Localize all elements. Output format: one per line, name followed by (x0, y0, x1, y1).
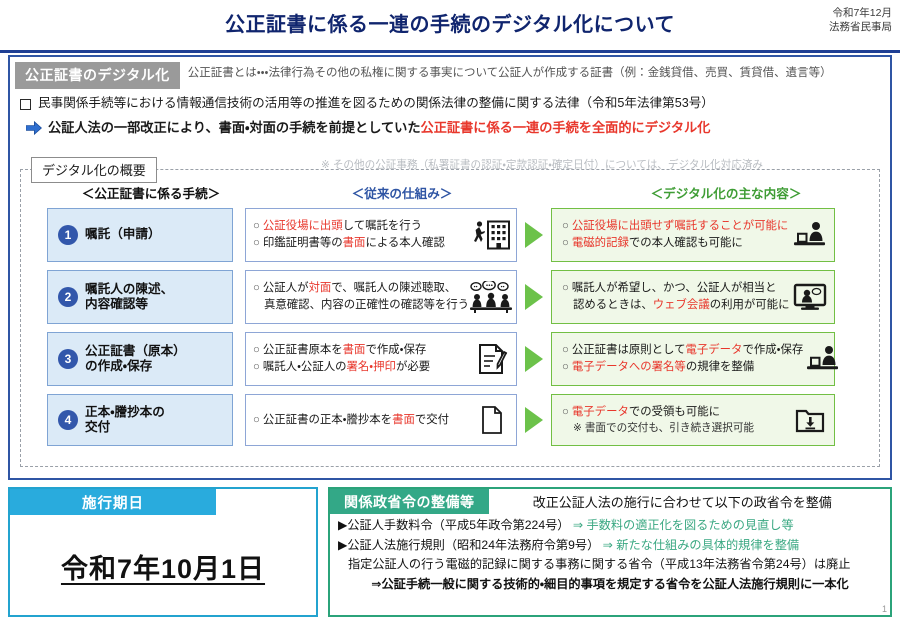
ordinance-tab-label: 関係政省令の整備等 (330, 489, 489, 514)
ordinance-header-note: 改正公証人法の施行に合わせて以下の政省令を整備 (489, 492, 891, 511)
step-number-badge: 4 (58, 410, 78, 430)
page-title: 公正証書に係る一連の手続のデジタル化について (0, 8, 900, 37)
old-system-box-2: ○公証人が対面で、嘱託人の陳述聴取、 真意確認、内容の正確性の確認等を行う (245, 270, 517, 324)
table-row: 4 正本・謄抄本の 交付 ○公正証書の正本・謄抄本を書面で交付 (21, 394, 881, 446)
step-label-line2: 内容確認等 (85, 297, 148, 311)
step-number-badge: 1 (58, 225, 78, 245)
ordinance-line-1: ▶公証人手数料令（平成5年政令第224号） ⇒ 手数料の適正化を図るための見直し… (330, 518, 890, 534)
table-row: 2 嘱託人の陳述、 内容確認等 ○公証人が対面で、嘱託人の陳述聴取、 真意確認、… (21, 270, 881, 324)
new-bullet-list-2: ○嘱託人が希望し、かつ、公証人が相当と 認めるときは、ウェブ会議の利用が可能に (562, 280, 790, 313)
ordinance-line-4: ⇒公証手続一般に関する技術的・細目的事項を規定する省令を公証人法施行規則に一本化 (330, 577, 890, 593)
green-arrow-icon-1 (517, 208, 551, 262)
table-row: 1 嘱託（申請） ○公証役場に出頭して嘱託を行う ○印鑑証明書等の書面による本人… (21, 208, 881, 262)
person-at-laptop-icon (803, 345, 843, 373)
step-number-badge: 3 (58, 349, 78, 369)
overview-box: デジタル化の概要 ※ その他の公証事務（私署証書の認証・定款認証・確定日付）につ… (20, 169, 880, 467)
step-label-line2: 交付 (85, 420, 110, 434)
page-number: 1 (882, 604, 887, 614)
law-reference-text: 民事関係手続等における情報通信技術の活用等の推進を図るための関係法律の整備に関す… (38, 96, 714, 112)
title-bar: 公正証書に係る一連の手続のデジタル化について 令和7年12月 法務省民事局 (0, 0, 900, 53)
overview-note: ※ その他の公証事務（私署証書の認証・定款認証・確定日付）については、デジタル化… (321, 157, 763, 172)
download-folder-icon (790, 406, 830, 434)
step-label: 嘱託（申請） (85, 227, 161, 242)
step-label-line1: 嘱託人の陳述、 (85, 282, 173, 296)
old-system-box-3: ○公正証書原本を書面で作成・保存 ○嘱託人・公証人の署名・押印が必要 (245, 332, 517, 386)
square-bullet-icon (20, 99, 31, 110)
old-bullet-list-4: ○公正証書の正本・謄抄本を書面で交付 (253, 412, 472, 429)
column-header-new: ＜デジタル化の主な内容＞ (581, 183, 871, 202)
amendment-summary-line: 公証人法の一部改正により、書面・対面の手続を前提としていた公正証書に係る一連の手… (26, 120, 884, 140)
step-label-line1: 公正証書（原本） (85, 344, 186, 358)
ordinance-line-2: ▶公証人法施行規則（昭和24年法務府令第9号） ⇒ 新たな仕組みの具体的規律を整… (330, 538, 890, 554)
step-label: 正本・謄抄本の 交付 (85, 405, 165, 435)
meeting-people-speech-bubbles-icon (469, 281, 513, 313)
amendment-highlight-text: 公正証書に係る一連の手続を全面的にデジタル化 (421, 120, 711, 137)
step-label-line1: 正本・謄抄本の (85, 405, 165, 419)
meta-issuer: 法務省民事局 (829, 20, 892, 34)
ordinance-line-1-arrow: ⇒ (573, 518, 583, 532)
office-building-walking-person-icon (472, 220, 512, 250)
document-meta: 令和7年12月 法務省民事局 (829, 6, 892, 34)
old-bullet-list-2: ○公証人が対面で、嘱託人の陳述聴取、 真意確認、内容の正確性の確認等を行う (253, 280, 469, 313)
main-panel: 公正証書のデジタル化 公正証書とは・・・法律行為その他の私権に関する事実について… (8, 55, 892, 480)
document-with-pen-icon (472, 343, 512, 375)
enforcement-date-box: 施行期日 令和7年10月1日 (8, 487, 318, 617)
green-arrow-icon-3 (517, 332, 551, 386)
section-tab-digitalization: 公正証書のデジタル化 (15, 62, 180, 89)
ordinance-line-1-green: 手数料の適正化を図るための見直し等 (587, 518, 794, 532)
step-box-4: 4 正本・謄抄本の 交付 (47, 394, 233, 446)
new-bullet-list-1: ○公証役場に出頭せず嘱託することが可能に ○電磁的記録での本人確認も可能に (562, 218, 790, 251)
table-row: 3 公正証書（原本） の作成・保存 ○公正証書原本を書面で作成・保存 ○嘱託人・… (21, 332, 881, 386)
step-box-2: 2 嘱託人の陳述、 内容確認等 (47, 270, 233, 324)
green-arrow-icon-2 (517, 270, 551, 324)
ordinance-header: 関係政省令の整備等 改正公証人法の施行に合わせて以下の政省令を整備 (330, 489, 890, 514)
person-at-laptop-icon (790, 221, 830, 249)
old-system-box-4: ○公正証書の正本・謄抄本を書面で交付 (245, 394, 517, 446)
meta-date: 令和7年12月 (829, 6, 892, 20)
ordinance-box: 関係政省令の整備等 改正公証人法の施行に合わせて以下の政省令を整備 ▶公証人手数… (328, 487, 892, 617)
new-system-box-2: ○嘱託人が希望し、かつ、公証人が相当と 認めるときは、ウェブ会議の利用が可能に (551, 270, 835, 324)
amendment-plain-text: 公証人法の一部改正により、書面・対面の手続を前提としていた (48, 120, 421, 137)
slide-page: 公正証書に係る一連の手続のデジタル化について 令和7年12月 法務省民事局 公正… (0, 0, 900, 623)
web-conference-monitor-icon (790, 283, 830, 311)
green-arrow-icon-4 (517, 394, 551, 446)
blue-arrow-icon (26, 121, 42, 140)
old-bullet-list-3: ○公正証書原本を書面で作成・保存 ○嘱託人・公証人の署名・押印が必要 (253, 342, 472, 375)
step-number-badge: 2 (58, 287, 78, 307)
new-bullet-list-3: ○公正証書は原則として電子データで作成・保存 ○電子データへの署名等の規律を整備 (562, 342, 803, 375)
ordinance-line-2-green: 新たな仕組みの具体的規律を整備 (616, 538, 799, 552)
ordinance-line-1-plain: ▶公証人手数料令（平成5年政令第224号） (338, 518, 570, 532)
law-reference-line: 民事関係手続等における情報通信技術の活用等の推進を図るための関係法律の整備に関す… (20, 96, 884, 112)
ordinance-line-2-plain: ▶公証人法施行規則（昭和24年法務府令第9号） (338, 538, 599, 552)
step-label-line2: の作成・保存 (85, 359, 152, 373)
old-system-box-1: ○公証役場に出頭して嘱託を行う ○印鑑証明書等の書面による本人確認 (245, 208, 517, 262)
step-box-1: 1 嘱託（申請） (47, 208, 233, 262)
old-bullet-list-1: ○公証役場に出頭して嘱託を行う ○印鑑証明書等の書面による本人確認 (253, 218, 472, 251)
new-system-box-1: ○公証役場に出頭せず嘱託することが可能に ○電磁的記録での本人確認も可能に (551, 208, 835, 262)
column-headers: ＜公正証書に係る手続＞ ＜従来の仕組み＞ ＜デジタル化の主な内容＞ (21, 183, 879, 203)
column-header-old: ＜従来の仕組み＞ (267, 183, 537, 202)
panel-header: 公正証書のデジタル化 公正証書とは・・・法律行為その他の私権に関する事実について… (15, 62, 884, 89)
bottom-section: 施行期日 令和7年10月1日 関係政省令の整備等 改正公証人法の施行に合わせて以… (8, 487, 892, 617)
ordinance-line-3: 指定公証人の行う電磁的記録に関する事務に関する省令（平成13年法務省令第24号）… (330, 557, 890, 573)
definition-text: 公正証書とは・・・法律行為その他の私権に関する事実について公証人が作成する証書（… (180, 62, 832, 89)
paper-document-icon (472, 405, 512, 435)
new-system-box-4: ○電子データでの受領も可能に ※ 書面での交付も、引き続き選択可能 (551, 394, 835, 446)
step-label: 嘱託人の陳述、 内容確認等 (85, 282, 173, 312)
ordinance-line-2-arrow: ⇒ (603, 538, 613, 552)
overview-tab-label: デジタル化の概要 (31, 157, 157, 183)
column-header-procedure: ＜公正証書に係る手続＞ (51, 183, 251, 202)
new-bullet-list-4: ○電子データでの受領も可能に ※ 書面での交付も、引き続き選択可能 (562, 404, 790, 436)
enforcement-date-value: 令和7年10月1日 (10, 547, 316, 586)
step-box-3: 3 公正証書（原本） の作成・保存 (47, 332, 233, 386)
enforcement-tab-label: 施行期日 (10, 489, 216, 515)
new-system-box-3: ○公正証書は原則として電子データで作成・保存 ○電子データへの署名等の規律を整備 (551, 332, 835, 386)
step-label: 公正証書（原本） の作成・保存 (85, 344, 186, 374)
